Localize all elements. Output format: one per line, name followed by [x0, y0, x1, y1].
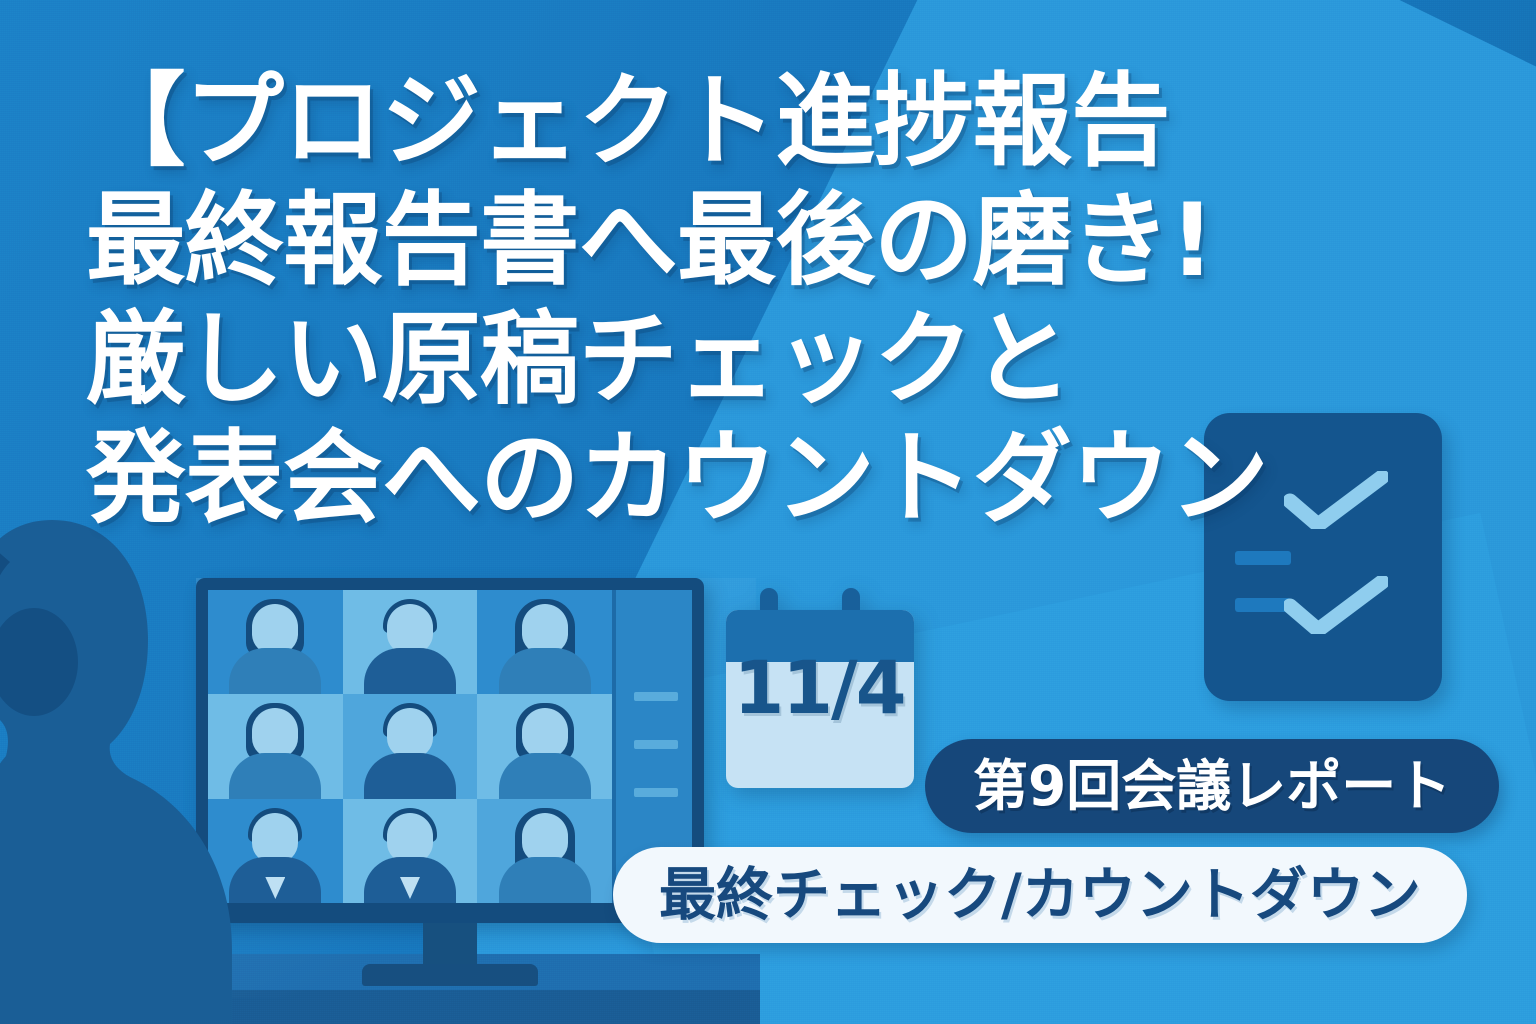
- status-badge-report: 第9回会議レポート: [925, 739, 1499, 833]
- headline-line-1: 【プロジェクト進捗報告: [86, 62, 1357, 181]
- checklist-dash: [1235, 551, 1291, 565]
- avatar-head: [522, 604, 568, 654]
- participant-tile: [343, 694, 478, 798]
- check-icon: [1284, 576, 1388, 634]
- banner-canvas: 11/4 【プロジェクト進捗報告 最終報告書へ最後の磨き! 厳しい原稿チェックと…: [0, 0, 1536, 1024]
- participant-tile: [343, 799, 478, 903]
- avatar-head: [387, 604, 433, 654]
- avatar-head: [387, 813, 433, 863]
- avatar-body: [499, 753, 591, 799]
- avatar-head: [387, 708, 433, 758]
- sidebar-dash: [634, 692, 678, 701]
- monitor-stand-base: [362, 964, 538, 986]
- person-with-headphones-silhouette: [0, 520, 246, 1024]
- participant-tile: [343, 590, 478, 694]
- headline-line-4: 発表会へのカウントダウン: [86, 419, 1357, 538]
- participant-tile: [477, 694, 612, 798]
- calendar-date: 11/4: [716, 646, 922, 731]
- silhouette-body: [0, 520, 232, 1024]
- participant-tile: [477, 799, 612, 903]
- participant-tile: [477, 590, 612, 694]
- badge-phase-label: 最終チェック/カウントダウン: [659, 867, 1421, 924]
- video-conference-grid-icon: [208, 590, 692, 903]
- sidebar-dash: [634, 740, 678, 749]
- participant-tile-grid: [208, 590, 612, 903]
- avatar-head: [252, 604, 298, 654]
- checklist-dash: [1235, 598, 1291, 612]
- headline-line-2: 最終報告書へ最後の磨き!: [86, 181, 1357, 300]
- calendar-icon: 11/4: [716, 588, 922, 808]
- avatar-head: [522, 813, 568, 863]
- avatar-head: [252, 708, 298, 758]
- avatar-body: [499, 648, 591, 694]
- avatar-body: [364, 648, 456, 694]
- monitor-stand-neck: [423, 923, 477, 967]
- status-badge-phase: 最終チェック/カウントダウン: [613, 847, 1467, 943]
- page-title: 【プロジェクト進捗報告 最終報告書へ最後の磨き! 厳しい原稿チェックと 発表会へ…: [86, 62, 1376, 538]
- avatar-body: [364, 753, 456, 799]
- avatar-body: [499, 857, 591, 903]
- avatar-head: [522, 708, 568, 758]
- headline-line-3: 厳しい原稿チェックと: [86, 300, 1357, 419]
- badge-report-label: 第9回会議レポート: [973, 759, 1451, 814]
- avatar-head: [252, 813, 298, 863]
- sidebar-dash: [634, 788, 678, 797]
